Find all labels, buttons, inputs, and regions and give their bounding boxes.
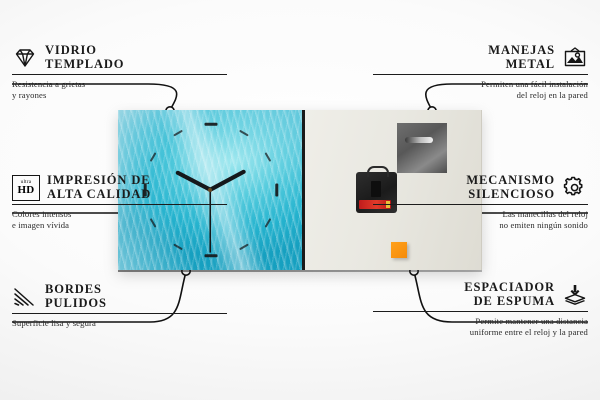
metal-hanger-plate [397, 123, 447, 173]
feature-description: Las manecillas del reloj no emiten ningú… [373, 205, 588, 230]
feature-description: Resistencia a grietas y rayones [12, 75, 227, 100]
picture-frame-icon [562, 46, 588, 70]
diamond-icon [12, 46, 38, 70]
feature-title: IMPRESIÓN DE ALTA CALIDAD [47, 174, 151, 201]
ultra-hd-icon: ultra HD [12, 175, 40, 201]
feature-description: Permite mantener una distancia uniforme … [373, 312, 588, 337]
feature-header: ESPACIADOR DE ESPUMA [373, 281, 588, 311]
feature-title: VIDRIO TEMPLADO [45, 44, 124, 71]
feature-header: ultra HD IMPRESIÓN DE ALTA CALIDAD [12, 174, 227, 204]
feature-espaciador-espuma: ESPACIADOR DE ESPUMA Permite mantener un… [373, 281, 588, 338]
foam-spacer [391, 242, 407, 258]
hanger-slot [405, 137, 433, 143]
feature-bordes-pulidos: BORDES PULIDOS Superficie lisa y segura [12, 283, 227, 329]
feature-title: ESPACIADOR DE ESPUMA [464, 281, 555, 308]
feature-description: Permiten una fácil instalación del reloj… [373, 75, 588, 100]
feature-header: MECANISMO SILENCIOSO [373, 174, 588, 204]
feature-header: VIDRIO TEMPLADO [12, 44, 227, 74]
feature-mecanismo-silencioso: MECANISMO SILENCIOSO Las manecillas del … [373, 174, 588, 231]
gear-icon [562, 176, 588, 200]
foam-spacer-icon [562, 283, 588, 307]
feature-impresion-alta-calidad: ultra HD IMPRESIÓN DE ALTA CALIDAD Color… [12, 174, 227, 231]
feature-title: MANEJAS METAL [488, 44, 555, 71]
feature-manejas-metal: MANEJAS METAL Permiten una fácil instala… [373, 44, 588, 101]
polished-edges-icon [12, 285, 38, 309]
feature-header: MANEJAS METAL [373, 44, 588, 74]
feature-title: MECANISMO SILENCIOSO [466, 174, 555, 201]
feature-description: Superficie lisa y segura [12, 314, 227, 329]
feature-header: BORDES PULIDOS [12, 283, 227, 313]
product-infographic: VIDRIO TEMPLADO Resistencia a grietas y … [0, 0, 600, 400]
ultra-hd-icon-large-text: HD [18, 185, 35, 196]
feature-description: Colores intensos e imagen vívida [12, 205, 227, 230]
feature-title: BORDES PULIDOS [45, 283, 107, 310]
feature-vidrio-templado: VIDRIO TEMPLADO Resistencia a grietas y … [12, 44, 227, 101]
